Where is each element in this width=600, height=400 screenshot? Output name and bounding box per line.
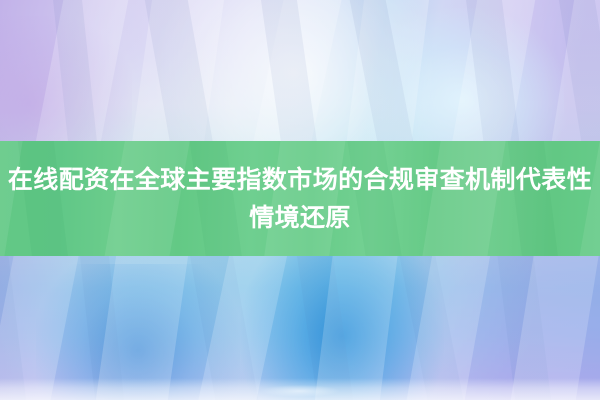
background-glow-blue-core [240,256,444,400]
page-title: 在线配资在全球主要指数市场的合规审查机制代表性情境还原 [0,161,600,237]
banner-graphic: 在线配资在全球主要指数市场的合规审查机制代表性情境还原 [0,0,600,400]
title-band: 在线配资在全球主要指数市场的合规审查机制代表性情境还原 [0,141,600,256]
background-glow-blue-lower-left [36,264,240,400]
